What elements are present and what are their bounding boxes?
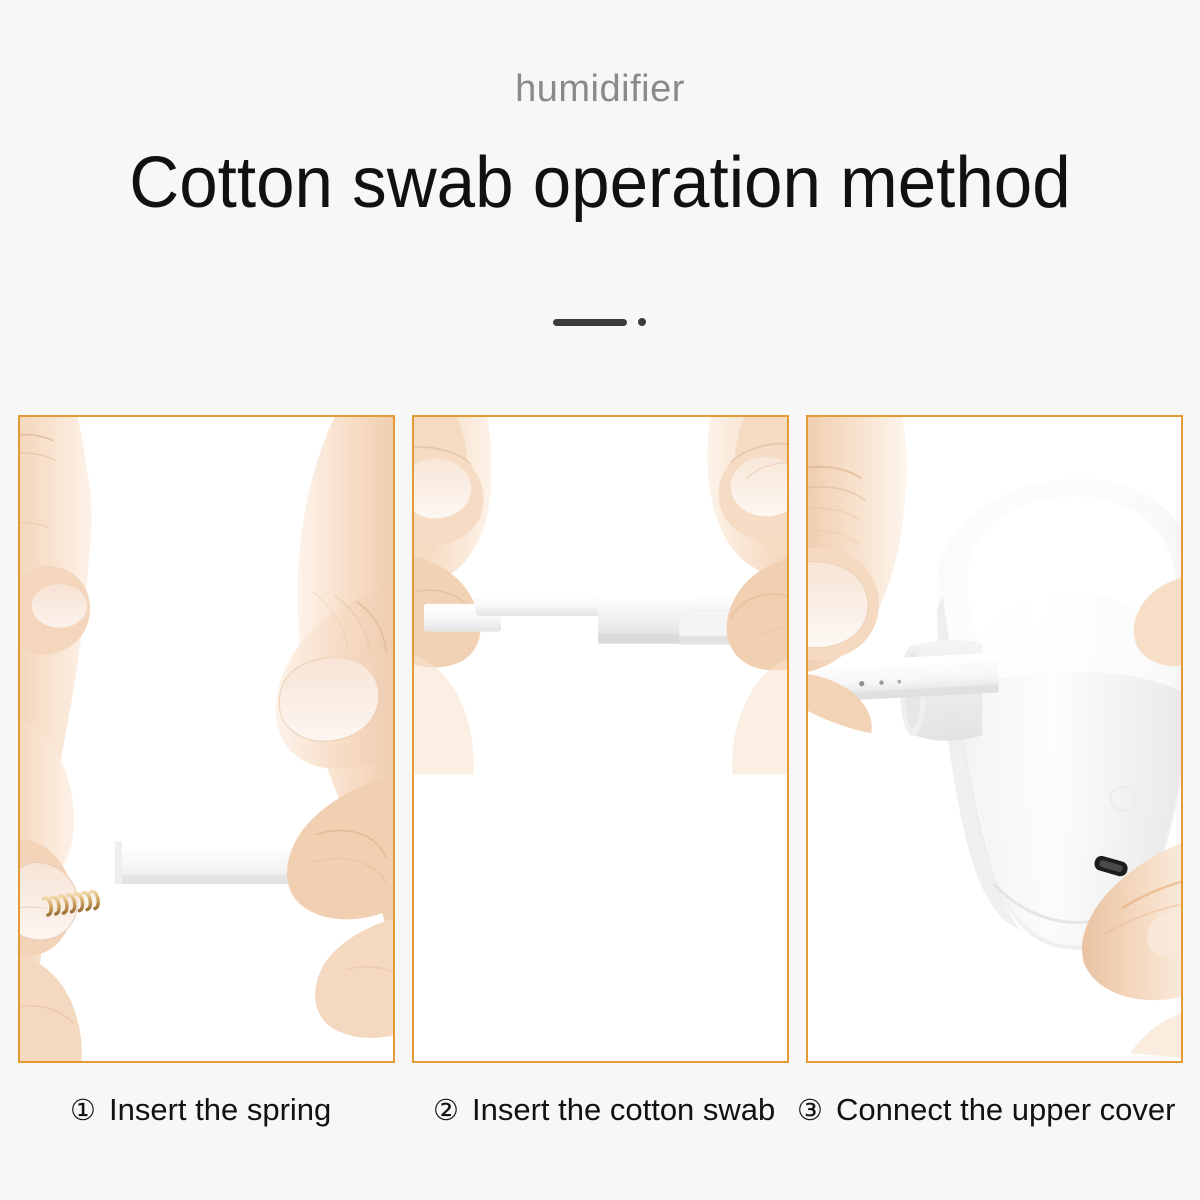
divider-ornament <box>553 318 646 326</box>
divider-bar <box>553 319 627 326</box>
step-label-1: Insert the spring <box>109 1092 331 1128</box>
step-caption-2: ② Insert the cotton swab <box>433 1092 775 1128</box>
step-panel-3 <box>806 415 1183 1063</box>
step-panel-row <box>18 415 1184 1063</box>
photo-two-hands-joining-swab-into-tube <box>414 417 787 1061</box>
product-instruction-graphic: humidifier Cotton swab operation method <box>0 0 1200 1200</box>
divider-dot <box>638 318 646 326</box>
step-panel-2 <box>412 415 789 1063</box>
page-title: Cotton swab operation method <box>24 142 1176 224</box>
subtitle: humidifier <box>0 68 1200 111</box>
caption-row: ① Insert the spring ② Insert the cotton … <box>0 1092 1200 1142</box>
photo-two-hands-holding-spring-and-swab-tube <box>20 417 393 1061</box>
photo-hand-inserting-swab-into-humidifier-cover <box>808 417 1181 1061</box>
step-label-3: Connect the upper cover <box>836 1092 1176 1128</box>
step-panel-1 <box>18 415 395 1063</box>
step-number-2: ② <box>433 1093 459 1128</box>
step-number-1: ① <box>70 1093 96 1128</box>
step-label-2: Insert the cotton swab <box>472 1092 775 1128</box>
step-caption-1: ① Insert the spring <box>70 1092 331 1128</box>
step-caption-3: ③ Connect the upper cover <box>797 1092 1176 1128</box>
step-number-3: ③ <box>797 1093 823 1128</box>
